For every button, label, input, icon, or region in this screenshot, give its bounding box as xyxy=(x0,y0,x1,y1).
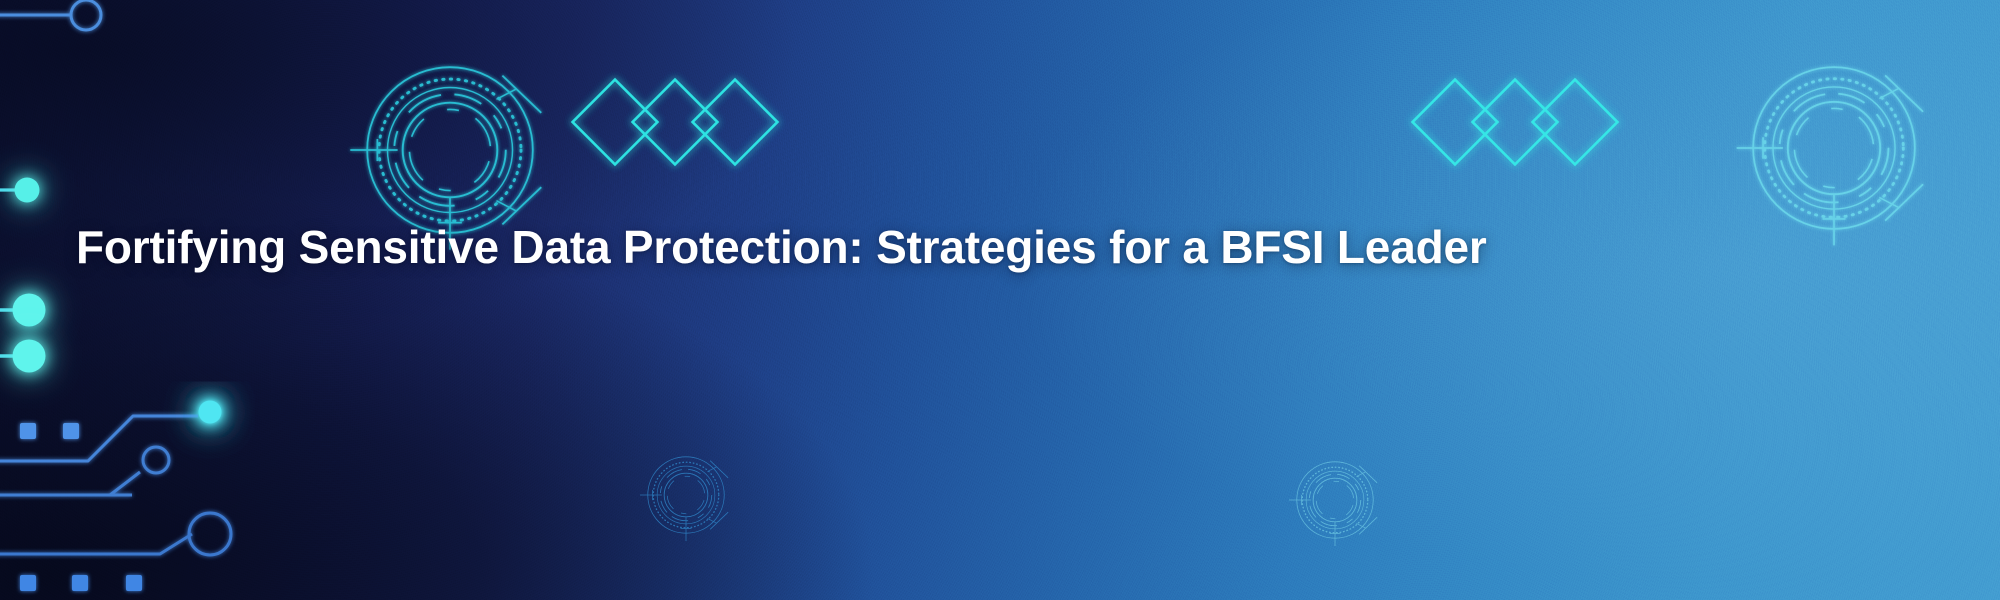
circuit-node-upper xyxy=(0,178,40,203)
decoration-layer xyxy=(0,0,2000,600)
circuit-pads-upper xyxy=(20,423,79,439)
diamond-1 xyxy=(573,80,658,165)
pad-upper-2 xyxy=(63,423,79,439)
circuit-trace-top xyxy=(0,0,101,30)
hud-ring-small-left xyxy=(640,457,728,541)
diamond-chain-right xyxy=(1413,80,1618,165)
pad-lower-1 xyxy=(20,575,36,591)
diamond-3 xyxy=(693,80,778,165)
node-glow-lower xyxy=(13,340,46,373)
pad-lower-2 xyxy=(72,575,88,591)
pad-upper-1 xyxy=(20,423,36,439)
node-hollow-top xyxy=(71,0,101,30)
circuit-node-lower xyxy=(0,340,46,373)
node-glow-upper xyxy=(15,178,40,203)
diamond-chain-left xyxy=(573,80,778,165)
diamond-2 xyxy=(633,80,718,165)
node-glow-trace-end xyxy=(199,401,222,424)
node-glow-mid xyxy=(13,294,46,327)
circuit-pads-lower xyxy=(20,575,142,591)
circuit-node-mid xyxy=(0,294,46,327)
diamond-1 xyxy=(1413,80,1498,165)
via-small xyxy=(143,447,169,473)
banner-root: Fortifying Sensitive Data Protection: St… xyxy=(0,0,2000,600)
via-large xyxy=(189,513,231,555)
circuit-board-graphic xyxy=(0,0,231,591)
diamond-3 xyxy=(1533,80,1618,165)
diamond-2 xyxy=(1473,80,1558,165)
hud-ring-small-right xyxy=(1289,462,1377,546)
circuit-trace-c xyxy=(0,513,231,555)
pad-lower-3 xyxy=(126,575,142,591)
circuit-trace-b xyxy=(0,447,169,495)
banner-title: Fortifying Sensitive Data Protection: St… xyxy=(76,212,1956,282)
